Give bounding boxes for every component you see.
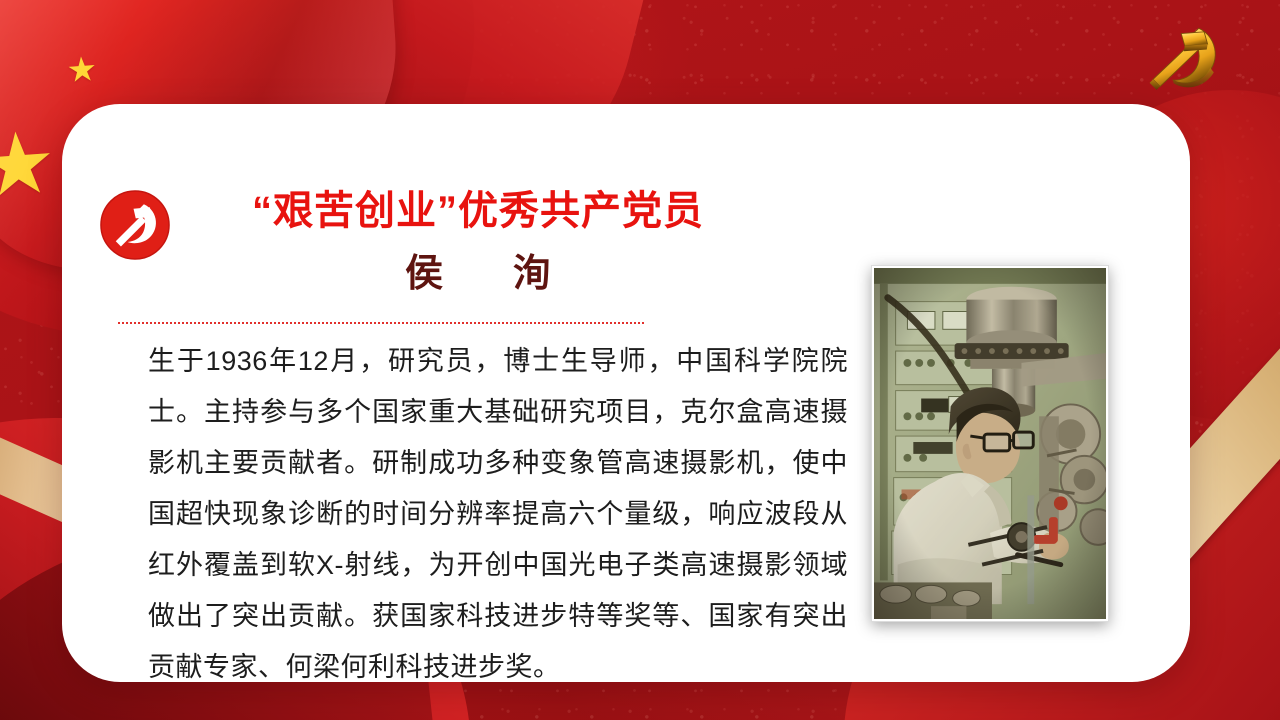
party-badge-icon [98, 188, 172, 262]
person-name: 侯 洵 [208, 242, 748, 297]
biography-text: 生于1936年12月，研究员，博士生导师，中国科学院院士。主持参与多个国家重大基… [148, 336, 848, 693]
flag-star-large: ★ [0, 119, 59, 210]
content-card: “艰苦创业”优秀共产党员 侯 洵 生于1936年12月，研究员，博士生导师，中国… [62, 104, 1190, 682]
dotted-divider [118, 322, 646, 324]
page-title: “艰苦创业”优秀共产党员 [208, 188, 748, 235]
slide-root: ★ ★ ★ ★ ★ [0, 0, 1280, 720]
party-emblem-icon [1128, 16, 1238, 104]
portrait-photo-image [874, 268, 1106, 619]
flag-star-small-1: ★ [66, 52, 99, 88]
portrait-photo [871, 265, 1109, 622]
